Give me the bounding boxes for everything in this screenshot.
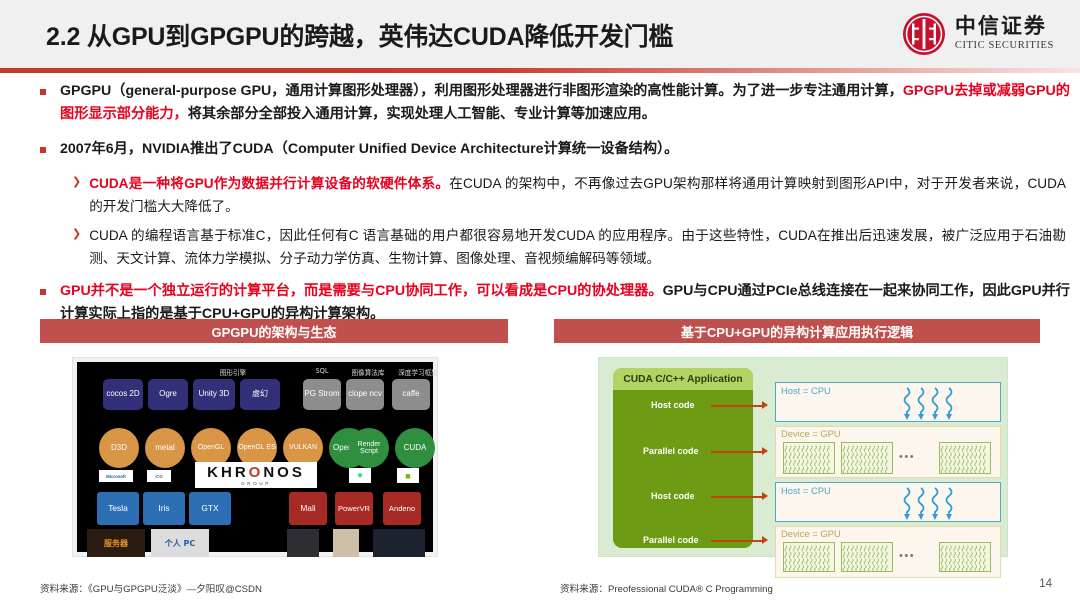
badge-android: ● [349, 468, 371, 483]
circle-cuda: CUDA [395, 428, 435, 468]
section-banner-right: 基于CPU+GPU的异构计算应用执行逻辑 [554, 319, 1040, 343]
arrow-parallel-1 [711, 451, 763, 453]
ellipsis-1: ••• [899, 451, 915, 463]
thumb-phone-1 [287, 529, 319, 557]
source-note-left: 资料来源：《GPU与GPGPU泛淡》—夕阳叹@CSDN [40, 581, 262, 595]
arrow-head-icon [762, 536, 768, 544]
sm-block-1c [939, 442, 991, 474]
slide-header: 2.2 从GPU到GPGPU的跨越，英伟达CUDA降低开发门槛 中信证券 CIT… [0, 0, 1080, 68]
ecosystem-canvas: 图形引擎 SQL 图像算法库 深度学习框架 cocos 2D Ogre Unit… [77, 362, 433, 552]
sub-bullet-2-text: CUDA 的编程语言基于标准C，因此任何有C 语言基础的用户都很容易地开发CUD… [89, 225, 1080, 270]
label-parallel-code-2: Parallel code [643, 535, 699, 545]
label-host-code-1: Host code [651, 400, 695, 410]
chip-cocos2d: cocos 2D [103, 379, 143, 410]
sq-iris: Iris [143, 492, 185, 525]
khronos-wordmark: KHRONOS [207, 465, 305, 480]
bullet-3-red: GPU并不是一个独立运行的计算平台，而是需要与CPU协同工作，可以看成是CPU的… [60, 283, 663, 299]
cpu-threads-icon-1 [899, 386, 963, 420]
badge-ios: iOS [147, 470, 171, 482]
sm-block-2b [841, 542, 893, 572]
bullet-1-part3: 将其余部分全部投入通用计算，实现处理人工智能、专业计算等加速应用。 [188, 106, 656, 122]
khronos-group-label: GROUP [241, 481, 271, 486]
khronos-logo: KHRONOS GROUP [195, 462, 317, 488]
chip-ogre: Ogre [148, 379, 188, 410]
arrow-bullet-icon: ❯ [72, 177, 81, 188]
device-gpu-label-2: Device = GPU [781, 528, 841, 539]
chip-pgstrom: PG Strom [303, 379, 341, 410]
banner-right-label: 基于CPU+GPU的异构计算应用执行逻辑 [681, 322, 913, 341]
chip-unity3d: Unity 3D [193, 379, 235, 410]
sub-bullet-item-1: ❯ CUDA是一种将GPU作为数据并行计算设备的软硬件体系。在CUDA 的架构中… [0, 173, 1080, 218]
sub-bullet-item-2: ❯ CUDA 的编程语言基于标准C，因此任何有C 语言基础的用户都很容易地开发C… [0, 225, 1080, 270]
square-bullet-icon [40, 89, 46, 95]
caption-image-algo-lib: 图像算法库 [343, 367, 393, 377]
cuda-application-title: CUDA C/C++ Application [613, 368, 753, 390]
host-cpu-label-1: Host = CPU [781, 385, 831, 396]
thumb-phone-2 [333, 529, 359, 557]
chip-unreal: 虚幻 [240, 379, 280, 410]
square-bullet-icon [40, 289, 46, 295]
content-body: GPGPU（general-purpose GPU，通用计算图形处理器），利用图… [0, 80, 1080, 328]
caption-sql: SQL [305, 367, 339, 375]
sm-block-1b [841, 442, 893, 474]
citic-logo: 中信证券 CITIC SECURITIES [902, 12, 1054, 56]
arrow-host-1 [711, 405, 763, 407]
sq-adreno: Andeno [383, 492, 421, 525]
source-note-right: 资料来源：Preofessional CUDA® C Programming [560, 581, 773, 595]
figure-gpgpu-ecosystem: 图形引擎 SQL 图像算法库 深度学习框架 cocos 2D Ogre Unit… [72, 357, 438, 557]
sm-block-1a [783, 442, 835, 474]
arrow-parallel-2 [711, 540, 763, 542]
bullet-item-2: 2007年6月，NVIDIA推出了CUDA（Computer Unified D… [0, 138, 1080, 161]
sm-block-2a [783, 542, 835, 572]
device-gpu-label-1: Device = GPU [781, 428, 841, 439]
thumb-phone-3 [373, 529, 425, 557]
header-divider [0, 68, 1080, 73]
sub-bullet-1-text: CUDA是一种将GPU作为数据并行计算设备的软硬件体系。在CUDA 的架构中，不… [89, 173, 1080, 218]
sq-powervr: PowerVR [335, 492, 373, 525]
logo-text-cn: 中信证券 [955, 16, 1054, 37]
arrow-head-icon [762, 492, 768, 500]
sub-bullet-1-red: CUDA是一种将GPU作为数据并行计算设备的软硬件体系。 [89, 176, 449, 191]
arrow-bullet-icon: ❯ [72, 229, 81, 240]
chip-caffe: caffe [392, 379, 430, 410]
ellipsis-2: ••• [899, 550, 915, 562]
section-banner-left: GPGPU的架构与生态 [40, 319, 508, 343]
arrow-head-icon [762, 447, 768, 455]
sq-tesla: Tesla [97, 492, 139, 525]
page-title: 2.2 从GPU到GPGPU的跨越，英伟达CUDA降低开发门槛 [46, 17, 673, 53]
bullet-1-text: GPGPU（general-purpose GPU，通用计算图形处理器），利用图… [60, 80, 1080, 126]
circle-metal: metal [145, 428, 185, 468]
logo-text-en: CITIC SECURITIES [955, 41, 1054, 52]
sq-gtx: GTX [189, 492, 231, 525]
badge-microsoft: Microsoft [99, 470, 133, 482]
thumb-personal-pc: 个人 PC [151, 529, 209, 557]
figure-cuda-execution: CUDA C/C++ Application Host code Paralle… [598, 357, 1008, 557]
arrow-head-icon [762, 401, 768, 409]
thumb-pc-label: 个人 PC [165, 538, 196, 549]
caption-graphics-engine: 图形引擎 [173, 367, 293, 377]
caption-dl-framework: 深度学习框架 [393, 367, 443, 377]
chip-clopencv: clope ncv [346, 379, 384, 410]
circle-renderscript: Render Script [349, 428, 389, 468]
sq-mali: Mali [289, 492, 327, 525]
thumb-server-label: 服务器 [104, 538, 128, 549]
bullet-item-1: GPGPU（general-purpose GPU，通用计算图形处理器），利用图… [0, 80, 1080, 126]
cpu-threads-icon-2 [899, 486, 963, 520]
host-cpu-label-2: Host = CPU [781, 485, 831, 496]
sm-block-2c [939, 542, 991, 572]
banner-left-label: GPGPU的架构与生态 [212, 322, 337, 341]
bullet-2-text: 2007年6月，NVIDIA推出了CUDA（Computer Unified D… [60, 138, 1080, 161]
slide: 2.2 从GPU到GPGPU的跨越，英伟达CUDA降低开发门槛 中信证券 CIT… [0, 0, 1080, 608]
citic-emblem-icon [902, 12, 946, 56]
badge-nvidia: ■ [397, 468, 419, 483]
square-bullet-icon [40, 147, 46, 153]
circle-d3d: D3D [99, 428, 139, 468]
cuda-application-block [613, 368, 753, 548]
thumb-server: 服务器 [87, 529, 145, 557]
arrow-host-2 [711, 496, 763, 498]
label-parallel-code-1: Parallel code [643, 446, 699, 456]
bullet-1-part1: GPGPU（general-purpose GPU，通用计算图形处理器），利用图… [60, 83, 903, 99]
page-number: 14 [1039, 578, 1052, 590]
label-host-code-2: Host code [651, 491, 695, 501]
